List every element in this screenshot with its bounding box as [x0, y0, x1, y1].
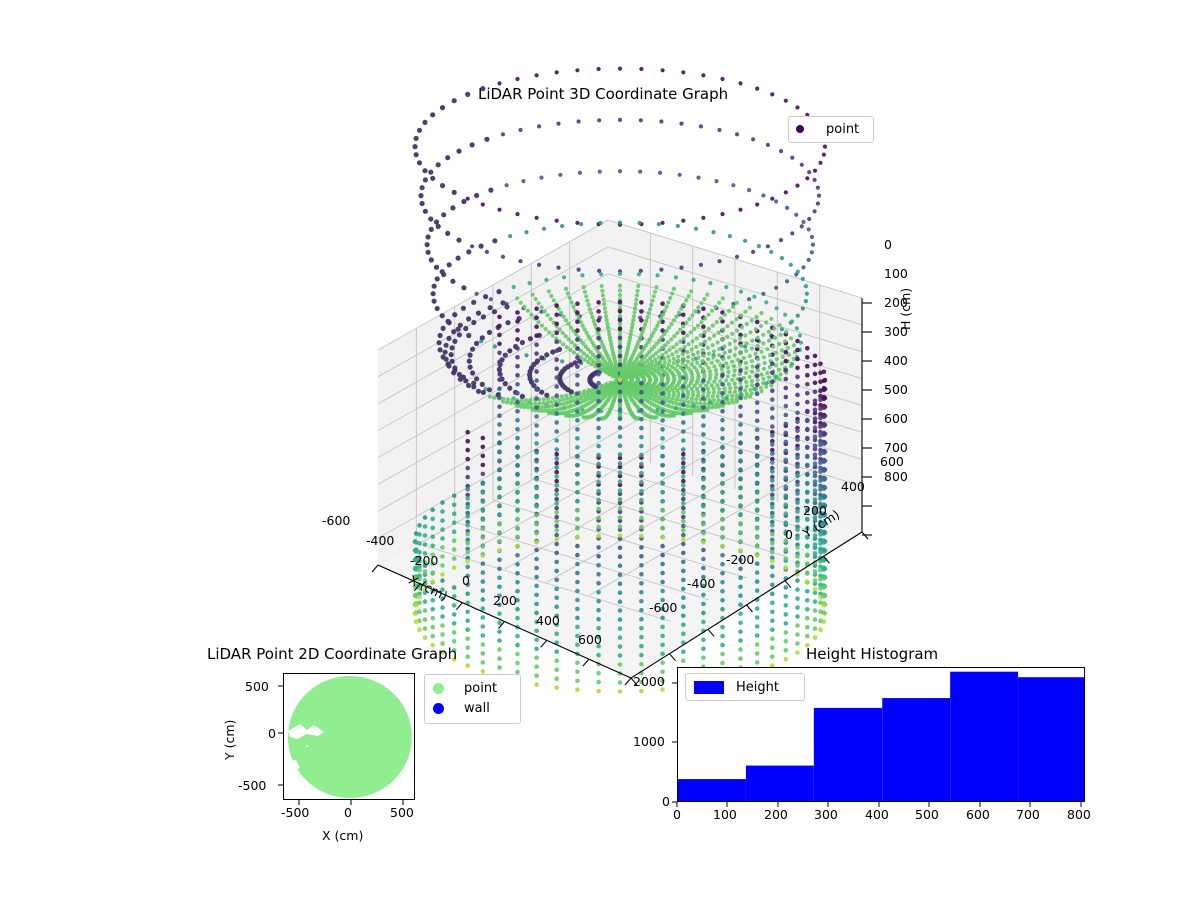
x-tick--400: -400 — [366, 533, 394, 548]
y-tick--600: -600 — [649, 600, 677, 615]
y-tick-400: 400 — [841, 479, 865, 494]
panel-2d: LiDAR Point 2D Coordinate Graph 500 0 -5… — [150, 640, 570, 870]
y-tick-600: 600 — [880, 454, 904, 469]
z-tick-400: 400 — [884, 353, 908, 368]
legend-point-label-3d: point — [826, 122, 859, 137]
panel-hist: Height Histogram 2000 1000 0 0 100 200 3… — [600, 640, 1120, 870]
legend-2d[interactable]: point wall — [424, 674, 521, 724]
z-tick-500: 500 — [884, 382, 908, 397]
z-tick-700: 700 — [884, 440, 908, 455]
legend-height-swatch — [694, 681, 724, 694]
panel-3d: LiDAR Point 3D Coordinate Graph — [0, 60, 1200, 640]
legend-point-marker-2d — [433, 683, 444, 694]
legend-3d[interactable]: point — [788, 116, 874, 143]
legend-hist[interactable]: Height — [685, 673, 805, 701]
z-tick-0: 0 — [884, 237, 892, 252]
legend-point-marker-3d — [796, 125, 804, 133]
x-tick--600: -600 — [322, 513, 350, 528]
y-tick-0: 0 — [785, 527, 793, 542]
legend-wall-marker-2d — [433, 703, 444, 714]
z-tick-800: 800 — [884, 469, 908, 484]
x-tick-600: 600 — [578, 632, 602, 647]
x-tick-0: 0 — [462, 573, 470, 588]
y-tick--200: -200 — [726, 552, 754, 567]
z-tick-600: 600 — [884, 411, 908, 426]
z-axis-label: H (cm) — [898, 270, 913, 330]
axes-3d — [0, 60, 1200, 640]
y-tick--400: -400 — [687, 576, 715, 591]
x-tick-200: 200 — [493, 593, 517, 608]
ticks-hist — [600, 640, 1120, 870]
matplotlib-figure: LiDAR Point 3D Coordinate Graph — [0, 0, 1200, 900]
legend-height-label: Height — [736, 680, 779, 695]
x-tick--200: -200 — [410, 553, 438, 568]
legend-wall-label-2d: wall — [464, 701, 490, 716]
z-axis-ticks — [862, 303, 872, 535]
x-tick-400: 400 — [536, 613, 560, 628]
legend-point-label-2d: point — [464, 681, 497, 696]
